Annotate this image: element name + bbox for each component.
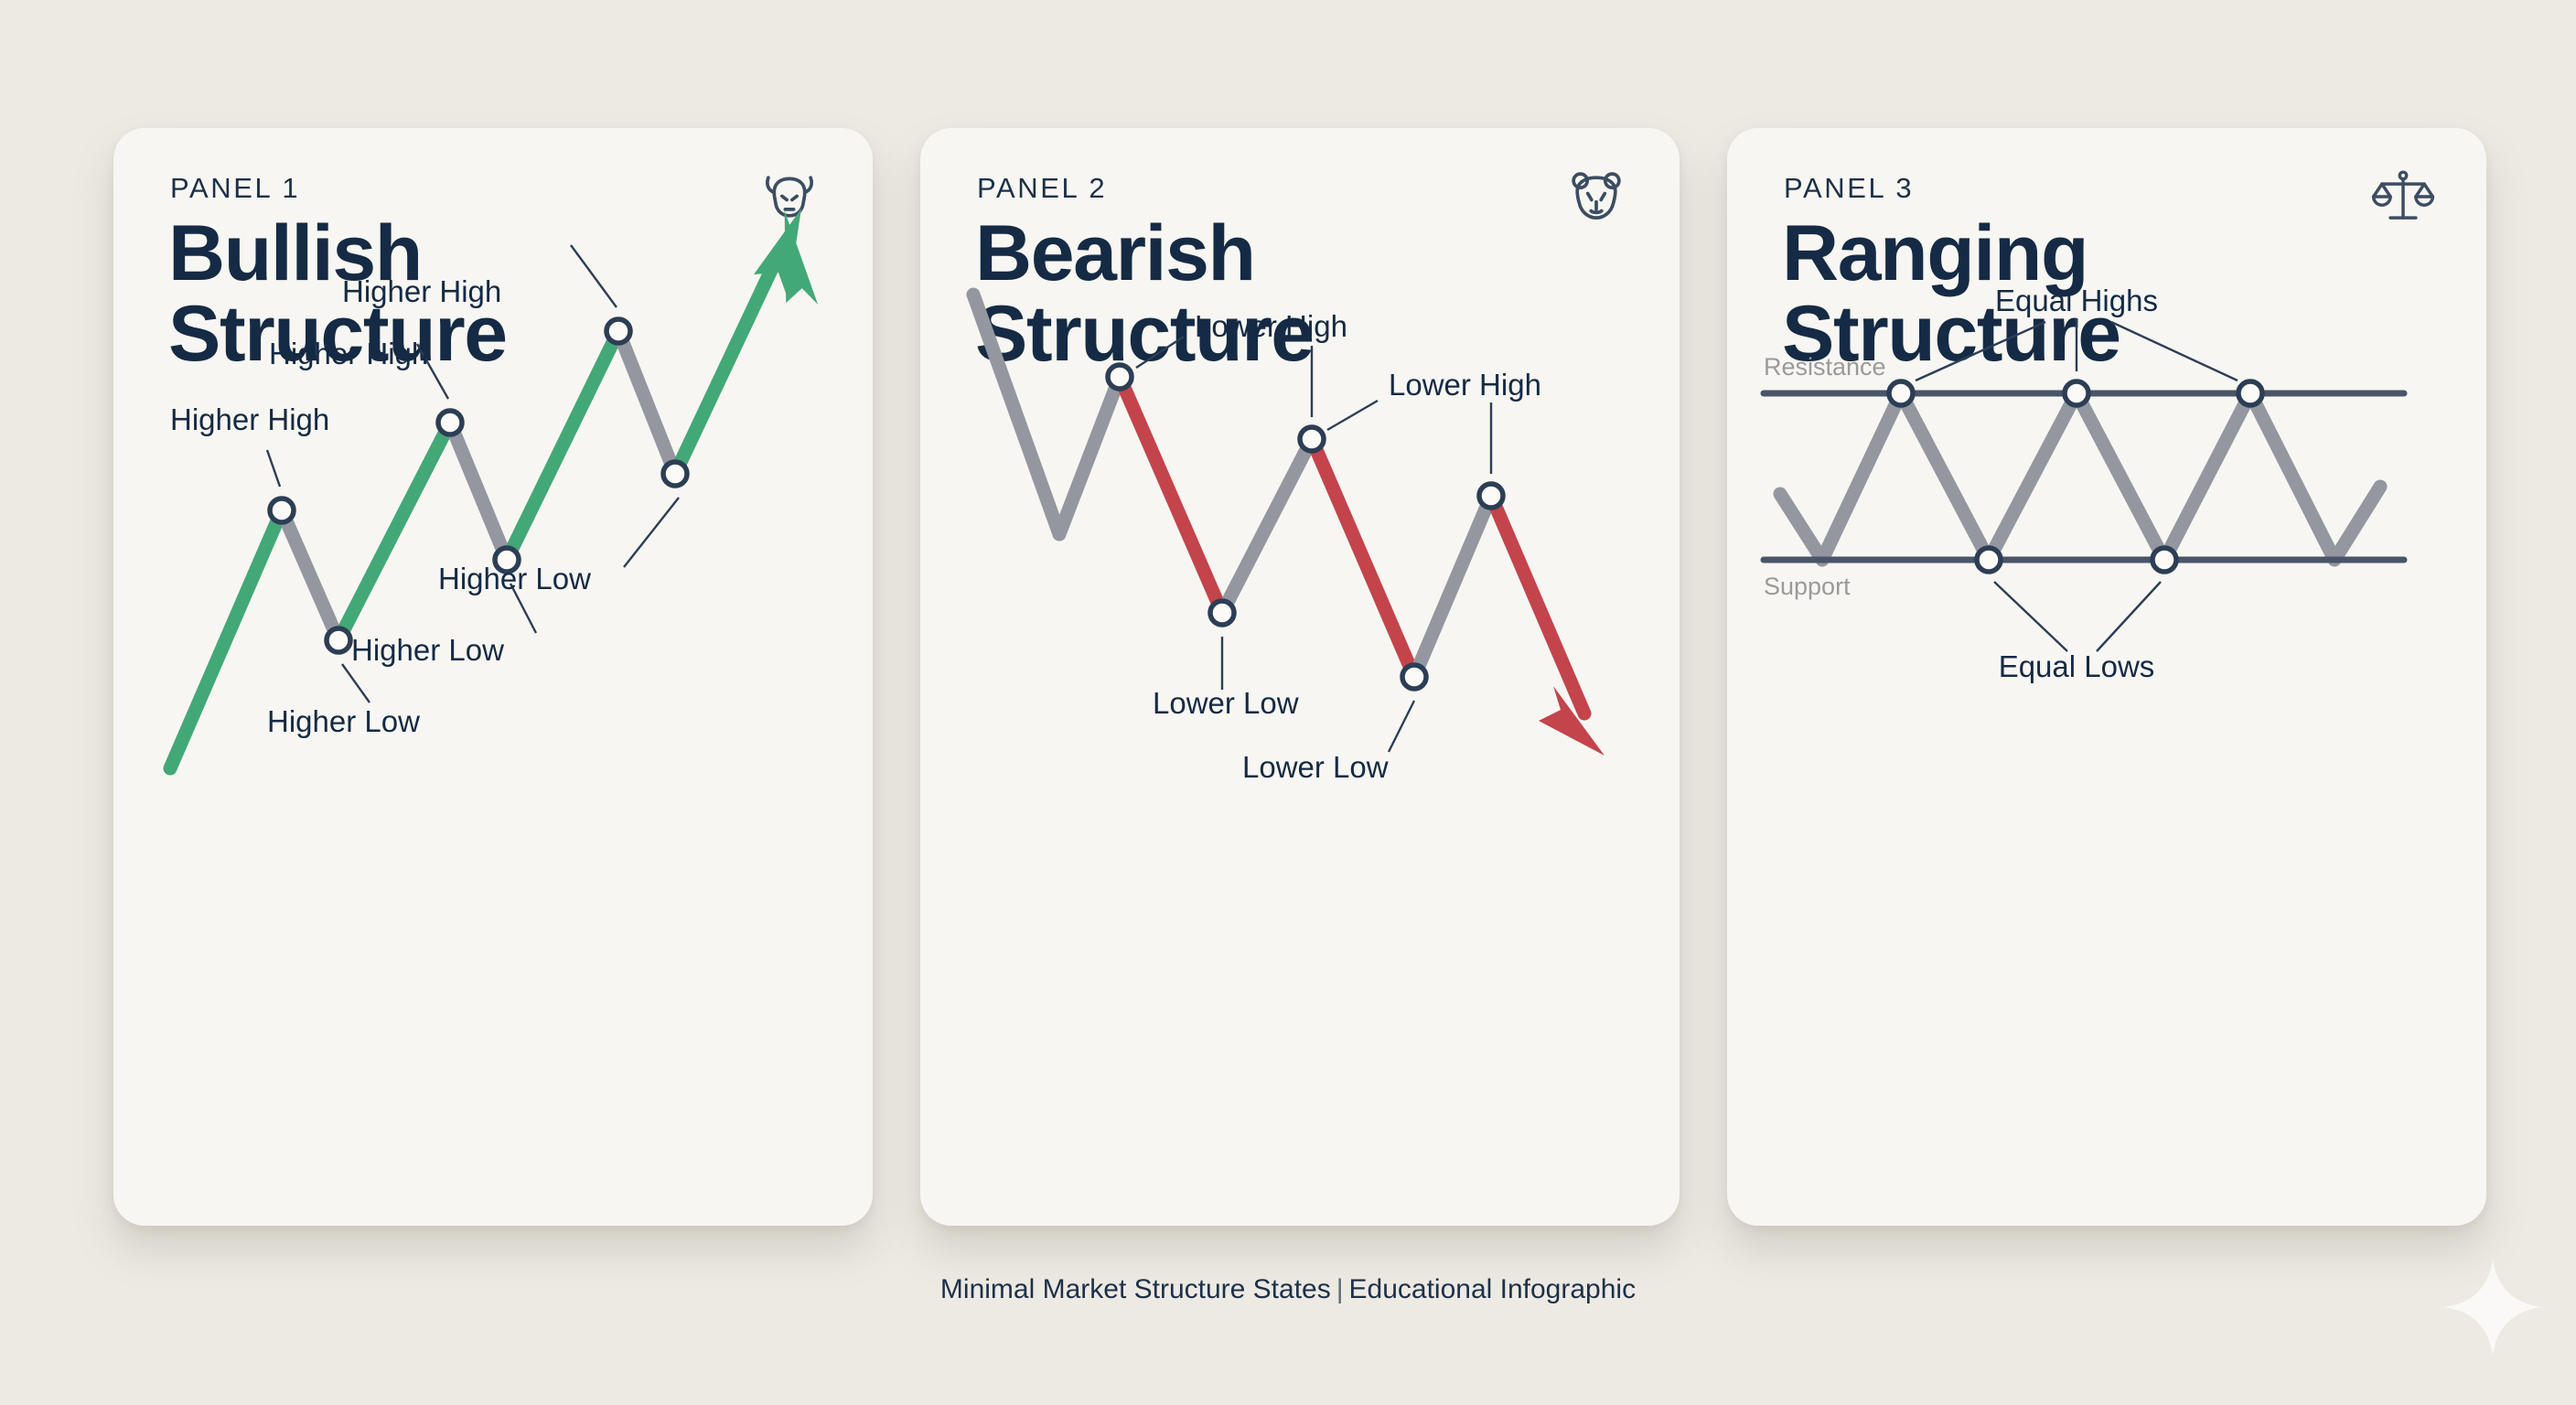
panel-card-ranging: PANEL 3 Ranging Structure: [1727, 128, 2486, 1226]
bullish-structure-chart: Higher High Higher High Higher High High…: [113, 128, 873, 1226]
bearish-structure-chart: Lower High Lower High Lower Low Lower Lo…: [920, 128, 1680, 1226]
chart-label: Equal Lows: [1999, 649, 2155, 683]
chart-label: Higher Low: [267, 704, 420, 738]
chart-label: Lower Low: [1153, 686, 1299, 720]
chart-label: Higher Low: [438, 562, 591, 595]
resistance-level-label: Resistance: [1764, 353, 1886, 381]
support-level-label: Support: [1764, 573, 1851, 600]
chart-label: Higher High: [342, 274, 501, 308]
chart-label: Lower Low: [1242, 750, 1389, 784]
footer-left-text: Minimal Market Structure States: [940, 1274, 1331, 1304]
chart-label: Lower High: [1389, 368, 1541, 402]
chart-label: Equal Highs: [1995, 284, 2158, 317]
panel-card-bullish: PANEL 1 Bullish Structure: [113, 128, 873, 1226]
footer-caption: Minimal Market Structure States|Educatio…: [0, 1274, 2576, 1305]
panel-card-bearish: PANEL 2 Bearish Structure: [920, 128, 1680, 1226]
ranging-structure-chart: Equal Highs Equal Lows Resistance Suppor…: [1727, 128, 2486, 1226]
chart-label: Higher High: [170, 402, 329, 436]
sparkle-icon: [2442, 1257, 2543, 1357]
chart-label: Higher High: [269, 337, 428, 370]
footer-right-text: Educational Infographic: [1349, 1274, 1637, 1304]
chart-label: Higher Low: [351, 633, 504, 667]
infographic-canvas: PANEL 1 Bullish Structure: [0, 0, 2576, 1405]
chart-label: Lower High: [1195, 309, 1347, 343]
footer-separator: |: [1331, 1274, 1349, 1304]
